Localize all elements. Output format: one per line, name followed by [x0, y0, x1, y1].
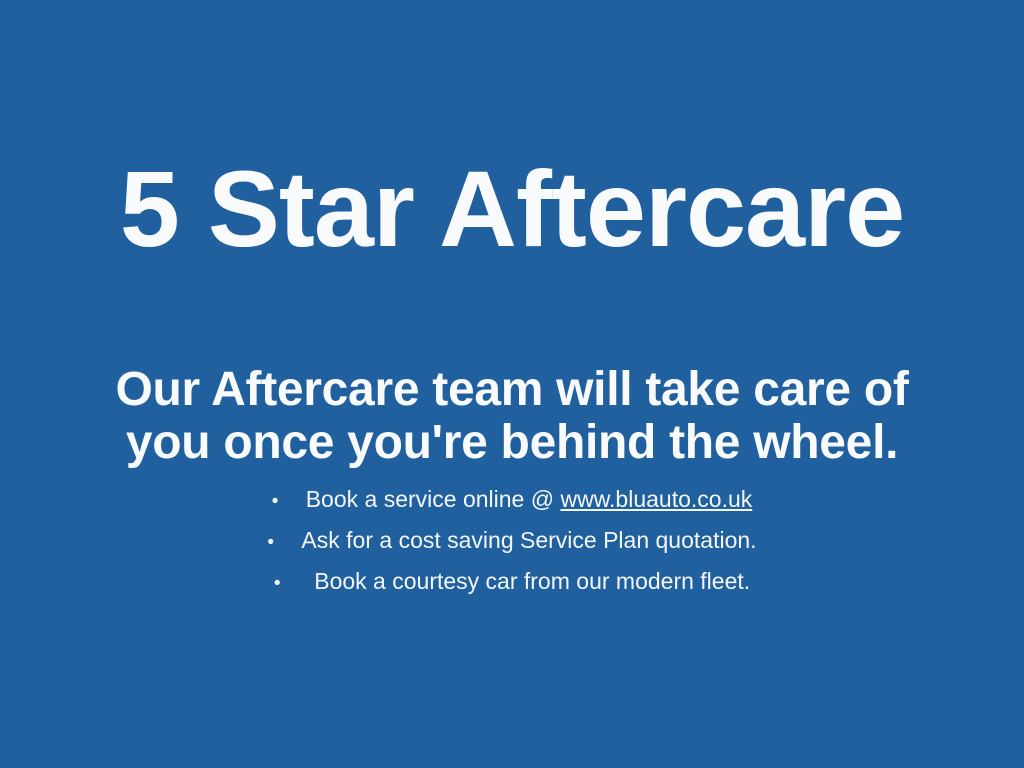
bullet-point-icon: • — [274, 564, 308, 603]
bullet-point-icon: • — [267, 523, 301, 562]
list-item-label: Book a service online @ — [306, 486, 561, 512]
list-item: • Book a courtesy car from our modern fl… — [0, 562, 1024, 603]
presentation-slide: 5 Star Aftercare Our Aftercare team will… — [0, 0, 1024, 768]
subtitle-line-1: Our Aftercare team will take care of — [0, 363, 1024, 416]
list-item-label: Ask for a cost saving Service Plan quota… — [301, 527, 756, 553]
list-item: •Book a service online @ www.bluauto.co.… — [0, 480, 1024, 521]
subtitle-line-2: you once you're behind the wheel. — [0, 416, 1024, 469]
list-item-label: Book a courtesy car from our modern flee… — [308, 568, 750, 594]
bluauto-website-link[interactable]: www.bluauto.co.uk — [560, 486, 752, 512]
list-item: •Ask for a cost saving Service Plan quot… — [0, 521, 1024, 562]
bullet-point-icon: • — [272, 482, 306, 521]
page-title: 5 Star Aftercare — [0, 150, 1024, 268]
bullet-list: •Book a service online @ www.bluauto.co.… — [0, 480, 1024, 603]
slide-subtitle: Our Aftercare team will take care of you… — [0, 363, 1024, 469]
